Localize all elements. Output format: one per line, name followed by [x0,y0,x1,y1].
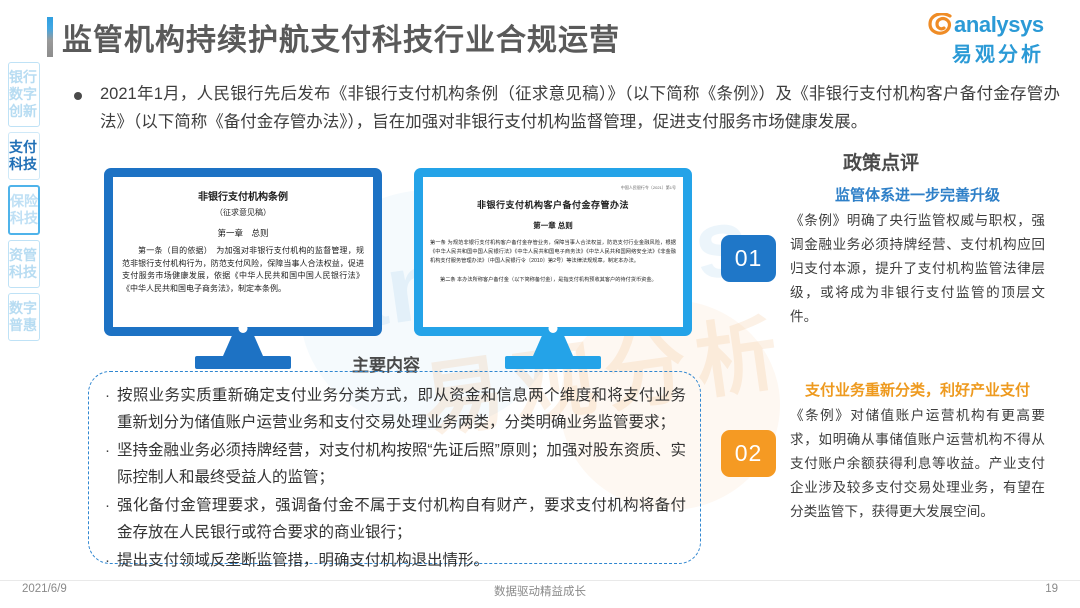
list-item: · 提出支付领域反垄断监管措，明确支付机构退出情形。 [105,547,686,574]
monitor-left-screen: 非银行支付机构条例 （征求意见稿） 第一章 总则 第一条（目的依据） 为加强对非… [113,177,373,327]
commentary-body: 《条例》对储值账户运营机构有更高要求，如明确从事储值账户运营机构不得从支付账户余… [790,404,1045,524]
footer-divider [0,580,1080,581]
list-item-text: 强化备付金管理要求，强调备付金不属于支付机构自有财产，要求支付机构将备付金存放在… [117,492,686,546]
doc-body: 第一条 为规范非银行支付机构客户备付金存管业务，保障当事人合法权益，防范支付行业… [430,239,676,266]
doc-stamp: 中国人民银行令〔2021〕第1号 [430,185,676,191]
commentary-badge-01: 01 [721,235,776,282]
sidebar-item-label: 数字普惠 [9,300,39,334]
monitor-right-led-icon [549,324,558,333]
lead-paragraph: 2021年1月，人民银行先后发布《非银行支付机构条例（征求意见稿）》（以下简称《… [100,80,1060,136]
sidebar-item-label: 保险科技 [10,193,38,227]
sidebar-item-digital-inclusive-finance[interactable]: 数字普惠 [8,293,40,341]
logo-text-cn: 易观分析 [952,38,1044,67]
doc-title: 非银行支付机构客户备付金存管办法 [430,198,676,211]
list-item-text: 坚持金融业务必须持牌经营，对支付机构按照“先证后照”原则；加强对股东资质、实际控… [117,437,686,491]
doc-subtitle: （征求意见稿） [122,207,364,218]
list-item-text: 按照业务实质重新确定支付业务分类方式，即从资金和信息两个维度和将支付业务重新划分… [117,382,686,436]
sidebar-item-label: 资管科技 [9,247,39,281]
commentary-heading: 支付业务重新分类，利好产业支付 [790,379,1045,400]
list-bullet-icon: · [105,437,117,491]
monitor-right-base [505,356,601,369]
sidebar-item-payment-tech[interactable]: 支付科技 [8,132,40,180]
commentary-block-02: 支付业务重新分类，利好产业支付 《条例》对储值账户运营机构有更高要求，如明确从事… [790,379,1045,524]
doc-body: 第一条（目的依据） 为加强对非银行支付机构的监督管理，规范非银行支付机构行为，防… [122,245,364,295]
monitor-left: 非银行支付机构条例 （征求意见稿） 第一章 总则 第一条（目的依据） 为加强对非… [104,168,382,368]
main-content-box: · 按照业务实质重新确定支付业务分类方式，即从资金和信息两个维度和将支付业务重新… [88,371,701,564]
document-custody-measures: 中国人民银行令〔2021〕第1号 非银行支付机构客户备付金存管办法 第一章 总则… [423,177,683,327]
monitor-left-base [195,356,291,369]
monitor-right-screen: 中国人民银行令〔2021〕第1号 非银行支付机构客户备付金存管办法 第一章 总则… [423,177,683,327]
slide-root: analysys 易观分析 监管机构持续护航支付科技行业合规运营 analysy… [0,0,1080,608]
list-item: · 坚持金融业务必须持牌经营，对支付机构按照“先证后照”原则；加强对股东资质、实… [105,437,686,491]
list-item-text: 提出支付领域反垄断监管措，明确支付机构退出情形。 [117,547,686,574]
sidebar-item-bank-digital-innovation[interactable]: 银行数字创新 [8,62,40,127]
sidebar-item-label: 银行数字创新 [9,69,39,120]
brand-logo: analysys 易观分析 [928,10,1058,68]
list-item: · 按照业务实质重新确定支付业务分类方式，即从资金和信息两个维度和将支付业务重新… [105,382,686,436]
document-regulation-draft: 非银行支付机构条例 （征求意见稿） 第一章 总则 第一条（目的依据） 为加强对非… [113,177,373,327]
bullet-dot-icon [74,92,82,100]
logo-text-en: analysys [954,12,1044,38]
footer-page-number: 19 [1045,583,1058,595]
commentary-title: 政策点评 [843,148,919,175]
title-accent-bar [47,17,53,57]
doc-title: 非银行支付机构条例 [122,188,364,203]
sidebar: 银行数字创新 支付科技 保险科技 资管科技 数字普惠 [8,62,40,346]
sidebar-item-asset-management-tech[interactable]: 资管科技 [8,240,40,288]
footer-slogan: 数据驱动精益成长 [0,583,1080,599]
list-bullet-icon: · [105,547,117,574]
doc-chapter: 第一章 总则 [430,220,676,231]
commentary-body: 《条例》明确了央行监管权威与职权，强调金融业务必须持牌经营、支付机构应回归支付本… [790,209,1045,329]
list-bullet-icon: · [105,382,117,436]
monitor-left-neck [223,336,263,356]
sidebar-item-insurance-tech[interactable]: 保险科技 [8,185,40,235]
monitor-right: 中国人民银行令〔2021〕第1号 非银行支付机构客户备付金存管办法 第一章 总则… [414,168,692,368]
commentary-badge-02: 02 [721,430,776,477]
monitor-right-neck [533,336,573,356]
monitor-left-led-icon [239,324,248,333]
list-item: · 强化备付金管理要求，强调备付金不属于支付机构自有财产，要求支付机构将备付金存… [105,492,686,546]
page-title: 监管机构持续护航支付科技行业合规运营 [62,15,620,59]
analysys-swirl-icon [928,13,954,36]
doc-body-2: 第二条 本办法所称客户备付金（以下简称备付金），是指支付机构预收其客户的待付货币… [430,276,676,285]
commentary-heading: 监管体系进一步完善升级 [790,184,1045,205]
monitor-right-frame: 中国人民银行令〔2021〕第1号 非银行支付机构客户备付金存管办法 第一章 总则… [414,168,692,336]
badge-number: 01 [735,245,763,272]
monitor-left-frame: 非银行支付机构条例 （征求意见稿） 第一章 总则 第一条（目的依据） 为加强对非… [104,168,382,336]
commentary-block-01: 监管体系进一步完善升级 《条例》明确了央行监管权威与职权，强调金融业务必须持牌经… [790,184,1045,329]
sidebar-item-label: 支付科技 [9,139,39,173]
list-bullet-icon: · [105,492,117,546]
doc-chapter: 第一章 总则 [122,227,364,239]
badge-number: 02 [735,440,763,467]
